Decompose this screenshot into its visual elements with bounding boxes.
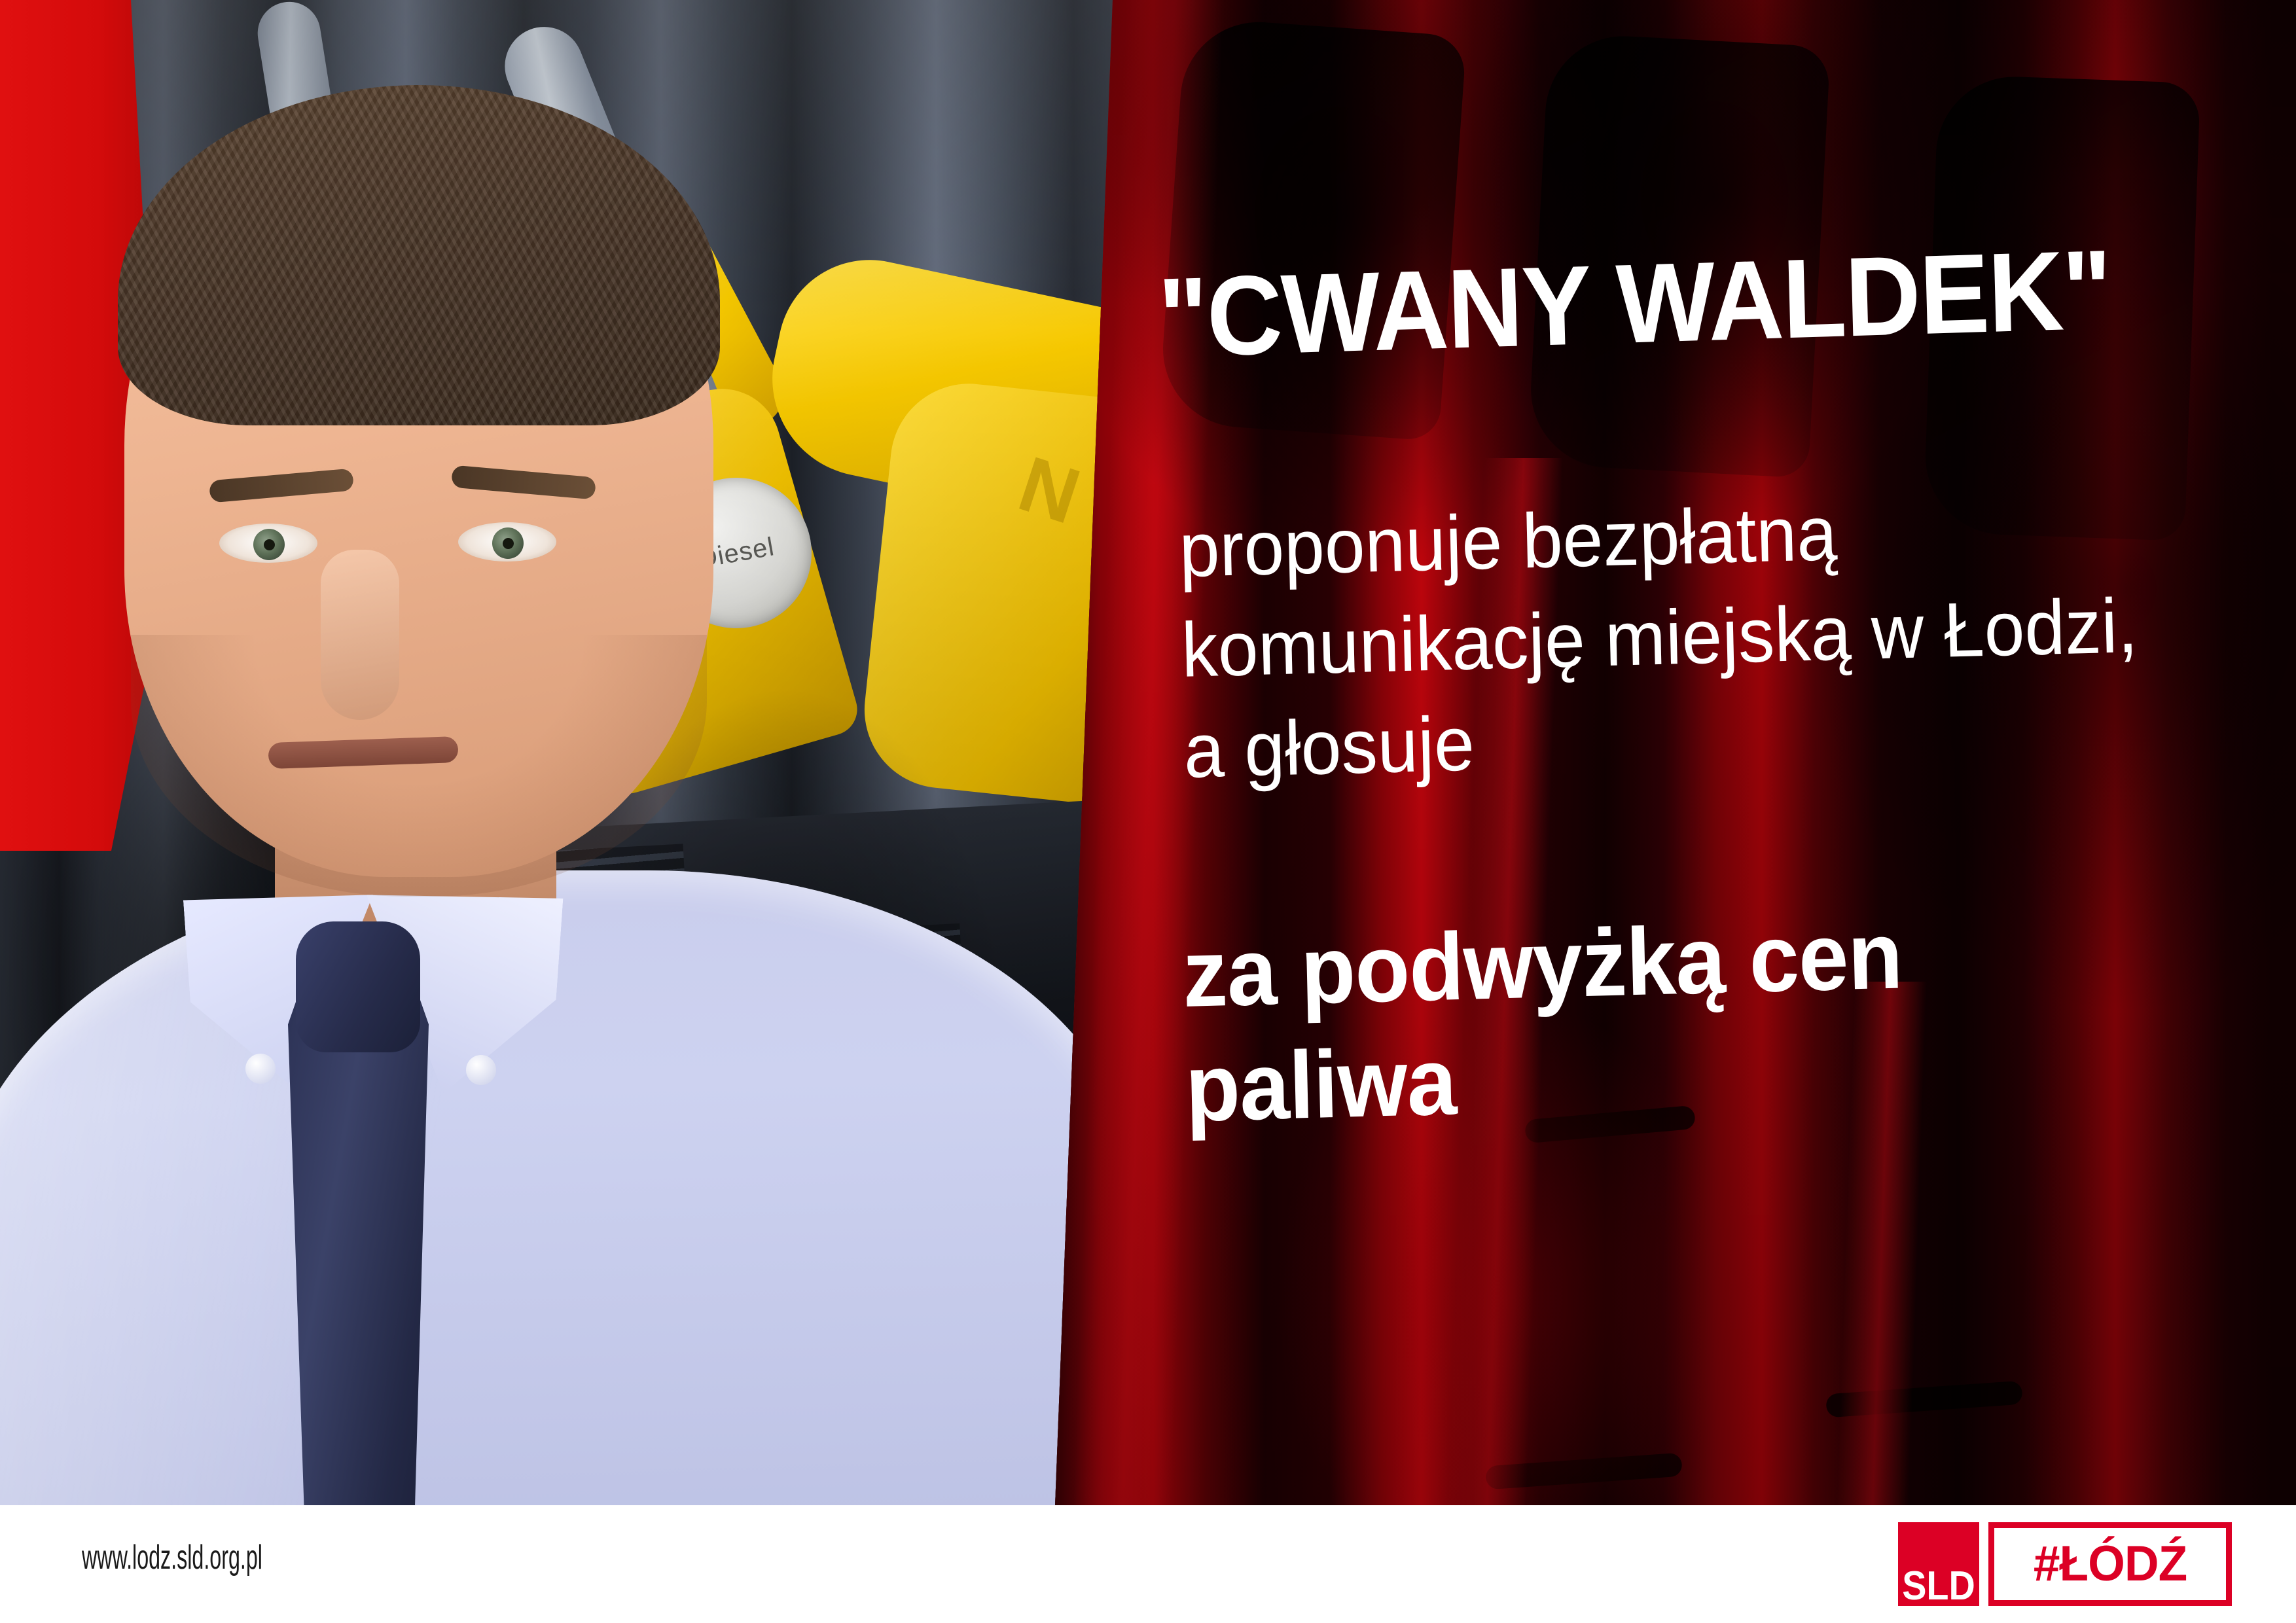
fuel-pump-photo: N N Diesel bbox=[0, 0, 1152, 1505]
poster-headline: "CWANY WALDEK" bbox=[1157, 230, 2213, 374]
politician-portrait bbox=[0, 98, 1119, 1505]
collar-button-left bbox=[245, 1054, 276, 1084]
eye-right bbox=[458, 522, 556, 562]
website-url[interactable]: www.lodz.sld.org.pl bbox=[82, 1538, 262, 1577]
lodz-hashtag-mark: #ŁÓDŹ bbox=[1988, 1522, 2232, 1606]
lodz-hashtag-text: #ŁÓDŹ bbox=[2034, 1539, 2187, 1589]
hair-texture bbox=[118, 85, 720, 425]
necktie-knot bbox=[296, 921, 420, 1052]
eye-left bbox=[219, 524, 317, 563]
collar-button-right bbox=[466, 1055, 496, 1085]
campaign-poster: N N Diesel bbox=[0, 0, 2296, 1623]
message-copy: "CWANY WALDEK" proponuje bezpłatną komun… bbox=[1142, 0, 2296, 1505]
jaw-shading bbox=[131, 635, 707, 897]
poster-footer: www.lodz.sld.org.pl SLD #ŁÓDŹ bbox=[0, 1505, 2296, 1623]
sld-logo-mark: SLD bbox=[1898, 1522, 1979, 1606]
poster-kicker: za podwyżką cen paliwa bbox=[1181, 889, 2233, 1145]
nose bbox=[321, 550, 399, 720]
poster-body-copy: proponuje bezpłatną komunikację miejską … bbox=[1178, 473, 2231, 802]
sld-logo-text: SLD bbox=[1902, 1567, 1975, 1605]
party-logo-lockup[interactable]: SLD #ŁÓDŹ bbox=[1898, 1522, 2232, 1606]
shirt-shading bbox=[0, 870, 1145, 1505]
